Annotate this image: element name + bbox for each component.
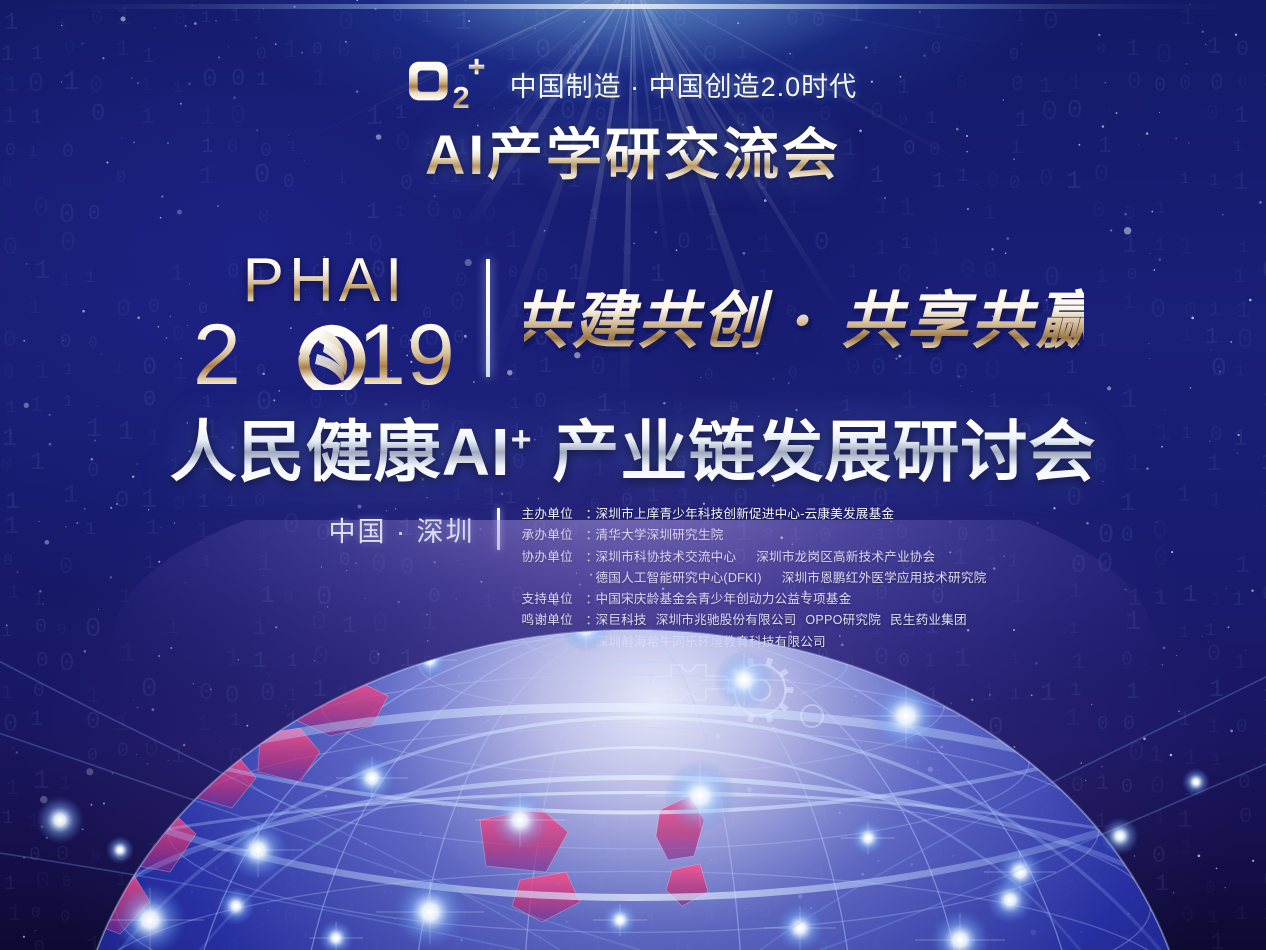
svg-text:1: 1 <box>983 201 996 226</box>
svg-text:1: 1 <box>28 812 39 832</box>
svg-text:1: 1 <box>590 767 606 797</box>
svg-text:1: 1 <box>312 675 327 704</box>
svg-text:1: 1 <box>675 868 688 893</box>
credit-org: 德国人工智能研究中心(DFKI) <box>596 571 762 585</box>
svg-text:1: 1 <box>454 840 467 865</box>
svg-text:2: 2 <box>452 80 469 112</box>
svg-text:0: 0 <box>285 744 298 769</box>
svg-text:1: 1 <box>311 837 324 862</box>
svg-text:1: 1 <box>395 203 405 222</box>
svg-text:1: 1 <box>841 746 854 771</box>
small-ring-icon <box>801 705 823 727</box>
credit-line: 支持单位：中国宋庆龄基金会青少年创动力公益专项基金 <box>522 589 970 610</box>
svg-text:0: 0 <box>1120 932 1134 950</box>
svg-text:0: 0 <box>675 933 691 950</box>
subtitle-text: AI产学研交流会 <box>0 126 1266 185</box>
svg-text:1: 1 <box>875 776 889 803</box>
svg-text:1: 1 <box>788 199 799 219</box>
calligraphy-slogan: 共建共创 · 共享共赢 <box>524 266 1084 370</box>
svg-text:1: 1 <box>33 766 50 797</box>
svg-text:0: 0 <box>400 805 411 827</box>
svg-text:1: 1 <box>1126 679 1140 705</box>
svg-text:0: 0 <box>985 862 1002 893</box>
globe-node <box>318 920 354 950</box>
svg-text:1: 1 <box>678 746 689 768</box>
svg-text:1: 1 <box>932 775 946 802</box>
svg-text:1: 1 <box>283 937 294 950</box>
svg-text:1: 1 <box>171 743 185 769</box>
svg-text:1: 1 <box>926 683 939 708</box>
svg-text:0: 0 <box>1041 804 1054 827</box>
svg-text:1: 1 <box>202 905 213 925</box>
credit-line: 协办单位：深圳市科协技术交流中心深圳市龙岗区高新技术产业协会 <box>522 547 970 568</box>
svg-text:0: 0 <box>228 745 244 775</box>
svg-text:0: 0 <box>453 741 469 771</box>
continent-shapes <box>82 678 708 934</box>
svg-text:1: 1 <box>957 776 968 798</box>
credit-colon: ： <box>586 589 596 610</box>
svg-text:0: 0 <box>510 718 522 741</box>
svg-text:0: 0 <box>33 680 44 702</box>
svg-text:1: 1 <box>595 874 607 897</box>
svg-text:1: 1 <box>1261 720 1266 740</box>
credit-line: 鸣谢单位：深巨科技深圳市兆驰股份有限公司OPPO研究院民生药业集团 <box>522 610 970 631</box>
year-2019: 2 19 <box>193 314 458 386</box>
svg-text:1: 1 <box>924 650 935 672</box>
svg-text:0: 0 <box>1097 874 1110 897</box>
svg-text:0: 0 <box>1128 738 1145 769</box>
svg-text:0: 0 <box>1097 713 1108 735</box>
svg-text:0: 0 <box>620 936 636 950</box>
svg-text:0: 0 <box>1150 772 1165 801</box>
svg-text:1: 1 <box>86 683 100 710</box>
svg-text:1: 1 <box>428 709 442 736</box>
main-title-plus: + <box>511 419 533 460</box>
phai-word-text: PHAI <box>243 246 408 315</box>
svg-text:0: 0 <box>843 775 854 795</box>
svg-text:1: 1 <box>1065 703 1081 733</box>
svg-text:0: 0 <box>428 683 441 706</box>
svg-text:0: 0 <box>592 806 608 836</box>
svg-text:0: 0 <box>1096 895 1111 924</box>
credit-org: 深圳市龙岗区高新技术产业协会 <box>756 550 935 564</box>
svg-text:0: 0 <box>456 805 468 828</box>
svg-text:1: 1 <box>1155 199 1166 219</box>
svg-text:1: 1 <box>1180 835 1193 860</box>
slogan-text: 中国制造 · 中国创造2.0时代 <box>510 65 858 104</box>
svg-text:1: 1 <box>758 780 768 799</box>
svg-text:0: 0 <box>34 938 45 950</box>
credit-org: 中国宋庆龄基金会青少年创动力公益专项基金 <box>596 592 852 606</box>
svg-text:0: 0 <box>340 742 353 765</box>
svg-text:1: 1 <box>815 675 829 702</box>
svg-text:0: 0 <box>424 838 437 861</box>
svg-text:1: 1 <box>874 191 890 221</box>
svg-text:0: 0 <box>285 803 299 829</box>
svg-text:1: 1 <box>1070 679 1081 701</box>
svg-text:0: 0 <box>760 904 771 924</box>
svg-text:1: 1 <box>1128 909 1138 927</box>
svg-text:1: 1 <box>981 774 997 804</box>
svg-text:0: 0 <box>988 712 1004 742</box>
svg-text:1: 1 <box>756 747 770 773</box>
credit-values: 德国人工智能研究中心(DFKI)深圳市恩鹏红外医学应用技术研究院 <box>596 568 987 589</box>
svg-text:1: 1 <box>846 653 858 676</box>
svg-text:1: 1 <box>1040 678 1056 708</box>
svg-text:0: 0 <box>369 714 380 736</box>
svg-text:1: 1 <box>565 739 579 765</box>
svg-text:1: 1 <box>337 682 351 709</box>
svg-text:1: 1 <box>1211 751 1222 771</box>
svg-text:0: 0 <box>454 904 467 929</box>
svg-text:1: 1 <box>819 938 832 950</box>
svg-text:1: 1 <box>1177 805 1193 835</box>
svg-text:0: 0 <box>258 206 269 228</box>
svg-text:0: 0 <box>225 683 239 710</box>
puzzle-piece-icon <box>654 665 729 700</box>
svg-text:1: 1 <box>482 232 492 250</box>
globe-node <box>394 876 466 948</box>
svg-text:1: 1 <box>624 775 638 802</box>
globe-node <box>602 902 638 938</box>
svg-text:1: 1 <box>617 807 633 837</box>
credit-line: 主办单位：深圳市上庠青少年科技创新促进中心-云康美发展基金 <box>522 504 970 525</box>
credit-colon: ： <box>586 610 596 631</box>
svg-text:1: 1 <box>315 780 327 803</box>
svg-text:0: 0 <box>35 867 50 896</box>
globe-node <box>348 754 396 802</box>
svg-text:1: 1 <box>819 903 835 933</box>
credit-org: 清华大学深圳研究生院 <box>596 528 724 542</box>
svg-text:1: 1 <box>899 682 912 705</box>
svg-text:0: 0 <box>1065 877 1076 899</box>
svg-text:1: 1 <box>1155 871 1169 897</box>
svg-text:0: 0 <box>1092 198 1106 224</box>
credit-colon: ： <box>586 547 596 568</box>
credit-values: 深圳市上庠青少年科技创新促进中心-云康美发展基金 <box>596 504 895 525</box>
svg-text:0: 0 <box>898 650 910 673</box>
svg-text:1: 1 <box>816 801 832 831</box>
main-title-part2: 产业链发展研讨会 <box>533 415 1097 490</box>
svg-text:0: 0 <box>675 802 691 832</box>
svg-text:0: 0 <box>734 876 746 899</box>
svg-text:0: 0 <box>86 709 100 736</box>
credit-org: 深巨科技 <box>596 613 647 627</box>
credit-colon: ： <box>586 525 596 546</box>
svg-text:0: 0 <box>452 206 462 224</box>
globe-node <box>930 910 990 950</box>
svg-text:1: 1 <box>533 776 546 799</box>
svg-text:1: 1 <box>1039 902 1054 931</box>
poster-header: 2 中国制造 · 中国创造2.0时代 AI产学研交流会 <box>0 0 1266 185</box>
svg-text:1: 1 <box>141 877 153 900</box>
svg-text:0: 0 <box>787 783 798 803</box>
svg-text:0: 0 <box>955 711 971 741</box>
svg-text:0: 0 <box>646 711 660 737</box>
svg-text:1: 1 <box>8 902 21 927</box>
svg-text:1: 1 <box>228 906 241 931</box>
credit-label: 鸣谢单位 <box>522 610 586 631</box>
svg-text:0: 0 <box>87 746 98 766</box>
svg-text:0: 0 <box>341 898 355 924</box>
svg-text:0: 0 <box>957 909 968 931</box>
svg-text:0: 0 <box>284 776 297 801</box>
svg-text:1: 1 <box>846 811 860 837</box>
credit-values: 中国宋庆龄基金会青少年创动力公益专项基金 <box>596 589 852 610</box>
svg-text:1: 1 <box>1210 930 1224 950</box>
o2-plus-logo-icon: 2 <box>409 56 498 112</box>
svg-text:1: 1 <box>449 927 464 950</box>
svg-text:0: 0 <box>566 871 580 897</box>
svg-text:1: 1 <box>678 710 691 735</box>
svg-text:1: 1 <box>930 907 944 934</box>
credit-values: 深圳前海希牛同乐环境教育科技有限公司 <box>596 632 826 653</box>
credit-label: 主办单位 <box>522 504 586 525</box>
svg-text:0: 0 <box>595 835 612 866</box>
svg-text:1: 1 <box>790 710 806 740</box>
city-label: 中国 · 深圳 <box>297 500 497 549</box>
svg-text:0: 0 <box>1010 770 1024 796</box>
svg-text:1: 1 <box>230 837 244 864</box>
svg-text:0: 0 <box>88 203 101 226</box>
svg-text:0: 0 <box>31 904 41 922</box>
page-title: 人民健康AI+ 产业链发展研讨会 <box>0 398 1266 495</box>
calligraphy-text: 共建共创 · 共享共赢 <box>524 284 1084 357</box>
svg-text:1: 1 <box>170 814 181 834</box>
svg-text:0: 0 <box>1123 713 1135 736</box>
svg-text:1: 1 <box>1209 675 1224 704</box>
svg-text:1: 1 <box>899 193 915 223</box>
credit-label: 承办单位 <box>522 525 586 546</box>
svg-text:0: 0 <box>449 871 466 902</box>
svg-text:0: 0 <box>59 201 75 231</box>
svg-text:1: 1 <box>731 744 743 767</box>
svg-text:1: 1 <box>983 815 993 833</box>
svg-text:1: 1 <box>679 652 689 671</box>
svg-text:1: 1 <box>1149 742 1163 768</box>
svg-text:0: 0 <box>3 710 18 739</box>
credit-line: 德国人工智能研究中心(DFKI)深圳市恩鹏红外医学应用技术研究院 <box>522 568 970 589</box>
svg-text:0: 0 <box>91 847 101 865</box>
svg-text:0: 0 <box>29 844 40 866</box>
svg-text:0: 0 <box>731 813 744 836</box>
svg-text:1: 1 <box>175 838 187 861</box>
svg-text:1: 1 <box>1155 808 1165 827</box>
credit-org: 深圳市上庠青少年科技创新促进中心-云康美发展基金 <box>596 507 895 521</box>
svg-text:1: 1 <box>872 935 882 950</box>
svg-text:0: 0 <box>478 811 491 834</box>
svg-text:1: 1 <box>903 778 916 803</box>
svg-text:1: 1 <box>370 780 381 800</box>
phai-logo: PHAI + <box>183 250 468 386</box>
svg-text:0: 0 <box>421 738 437 768</box>
svg-text:1: 1 <box>960 932 976 950</box>
credit-values: 清华大学深圳研究生院 <box>596 525 724 546</box>
svg-text:0: 0 <box>394 784 405 804</box>
svg-text:0: 0 <box>620 676 636 706</box>
credit-org: 深圳市科协技术交流中心 <box>596 550 737 564</box>
svg-text:1: 1 <box>594 689 604 708</box>
gear-icon <box>727 658 794 721</box>
o2-logo-row: 2 中国制造 · 中国创造2.0时代 <box>0 56 1266 112</box>
globe-node <box>714 650 774 710</box>
svg-text:0: 0 <box>174 872 187 895</box>
svg-text:19: 19 <box>358 314 456 390</box>
credit-values: 深圳市科协技术交流中心深圳市龙岗区高新技术产业协会 <box>596 547 936 568</box>
svg-text:0: 0 <box>680 903 691 925</box>
svg-text:0: 0 <box>144 735 159 764</box>
logo-block: PHAI + <box>0 250 1266 386</box>
svg-text:0: 0 <box>847 677 860 700</box>
svg-text:0: 0 <box>141 675 157 705</box>
svg-text:0: 0 <box>60 908 70 927</box>
credit-line: 深圳前海希牛同乐环境教育科技有限公司 <box>522 632 970 653</box>
svg-text:1: 1 <box>287 652 298 672</box>
svg-text:1: 1 <box>533 679 550 710</box>
credit-values: 深巨科技深圳市兆驰股份有限公司OPPO研究院民生药业集团 <box>596 610 967 631</box>
svg-text:0: 0 <box>1238 772 1251 795</box>
svg-text:0: 0 <box>981 930 997 950</box>
svg-text:1: 1 <box>1072 650 1085 675</box>
svg-text:1: 1 <box>116 871 127 891</box>
svg-text:0: 0 <box>930 865 944 891</box>
svg-text:0: 0 <box>1205 879 1216 899</box>
svg-text:1: 1 <box>427 901 443 931</box>
globe-node <box>228 820 288 880</box>
svg-text:1: 1 <box>6 778 19 801</box>
credit-line: 承办单位：清华大学深圳研究生院 <box>522 525 970 546</box>
svg-text:0: 0 <box>117 740 129 763</box>
svg-text:1: 1 <box>563 809 573 827</box>
svg-text:1: 1 <box>648 868 664 898</box>
svg-text:0: 0 <box>199 680 213 707</box>
svg-text:1: 1 <box>481 874 494 897</box>
svg-text:0: 0 <box>1152 843 1166 869</box>
globe-node <box>36 796 84 844</box>
svg-text:0: 0 <box>1036 941 1049 950</box>
logo-divider-bar <box>486 259 490 377</box>
svg-text:0: 0 <box>115 933 131 950</box>
svg-text:0: 0 <box>592 711 607 740</box>
poster-canvas: 1101011100110010100001110111011010000110… <box>0 0 1266 950</box>
globe-node <box>490 790 550 850</box>
svg-text:0: 0 <box>423 653 433 671</box>
svg-text:1: 1 <box>285 841 299 867</box>
svg-text:1: 1 <box>564 934 579 950</box>
svg-text:1: 1 <box>927 744 940 767</box>
svg-text:1: 1 <box>1096 771 1109 796</box>
svg-text:0: 0 <box>283 901 299 931</box>
svg-text:0: 0 <box>484 709 495 731</box>
svg-text:0: 0 <box>62 873 72 891</box>
svg-text:1: 1 <box>1099 838 1113 864</box>
svg-text:1: 1 <box>1095 942 1108 950</box>
svg-text:0: 0 <box>1067 927 1082 950</box>
svg-text:1: 1 <box>761 674 776 703</box>
globe-node <box>1040 730 1076 766</box>
svg-text:1: 1 <box>728 706 743 735</box>
svg-text:1: 1 <box>395 881 405 899</box>
svg-text:1: 1 <box>396 748 407 770</box>
svg-text:1: 1 <box>2 807 13 829</box>
svg-text:0: 0 <box>1072 843 1083 863</box>
svg-text:0: 0 <box>816 745 829 770</box>
svg-text:1: 1 <box>673 849 683 867</box>
globe-node <box>996 848 1044 896</box>
svg-text:1: 1 <box>201 808 216 837</box>
svg-text:1: 1 <box>254 834 270 864</box>
svg-text:0: 0 <box>482 201 496 228</box>
svg-text:1: 1 <box>144 901 160 931</box>
svg-text:1: 1 <box>1184 746 1197 771</box>
credit-label: 协办单位 <box>522 547 586 568</box>
svg-text:1: 1 <box>617 712 632 741</box>
svg-text:1: 1 <box>590 933 604 950</box>
svg-text:1: 1 <box>1208 716 1219 738</box>
svg-text:0: 0 <box>339 773 353 800</box>
svg-text:1: 1 <box>1095 811 1108 834</box>
svg-text:0: 0 <box>734 842 746 865</box>
svg-text:1: 1 <box>86 931 102 950</box>
svg-text:0: 0 <box>1122 869 1136 895</box>
svg-text:1: 1 <box>146 838 159 863</box>
globe-node <box>114 884 186 950</box>
credit-org: OPPO研究院 <box>805 613 881 627</box>
svg-text:1: 1 <box>228 799 245 830</box>
credit-label: 支持单位 <box>522 589 586 610</box>
globe-node <box>217 887 255 925</box>
svg-text:0: 0 <box>1065 908 1077 931</box>
year-2019-graphic: 2 19 <box>193 314 458 390</box>
svg-text:0: 0 <box>260 678 276 708</box>
svg-text:1: 1 <box>533 846 543 864</box>
svg-text:0: 0 <box>958 747 971 772</box>
svg-text:0: 0 <box>479 929 495 950</box>
svg-text:1: 1 <box>792 736 808 766</box>
svg-text:2: 2 <box>193 314 242 390</box>
globe-node <box>106 836 134 864</box>
svg-text:1: 1 <box>589 206 599 225</box>
svg-text:0: 0 <box>511 743 524 766</box>
phai-plus-superscript: + <box>408 244 423 270</box>
svg-text:1: 1 <box>982 681 996 708</box>
svg-text:0: 0 <box>623 906 633 925</box>
credit-org: 深圳市恩鹏红外医学应用技术研究院 <box>782 571 987 585</box>
svg-text:1: 1 <box>285 708 299 735</box>
svg-text:1: 1 <box>707 199 718 221</box>
credits-block: 主办单位：深圳市上庠青少年科技创新促进中心-云康美发展基金承办单位：清华大学深圳… <box>500 500 970 653</box>
svg-text:0: 0 <box>705 928 721 950</box>
globe-node <box>776 904 824 950</box>
svg-text:0: 0 <box>283 868 296 893</box>
svg-text:1: 1 <box>871 683 885 710</box>
svg-text:1: 1 <box>59 773 71 796</box>
globe-node <box>1182 768 1210 796</box>
globe-node <box>1101 817 1139 855</box>
svg-text:1: 1 <box>30 707 43 732</box>
svg-text:0: 0 <box>365 682 379 708</box>
svg-text:1: 1 <box>617 839 631 866</box>
credit-org: 深圳前海希牛同乐环境教育科技有限公司 <box>596 635 826 649</box>
svg-text:1: 1 <box>1010 686 1020 705</box>
svg-text:1: 1 <box>510 868 526 898</box>
svg-text:1: 1 <box>309 897 324 926</box>
svg-text:0: 0 <box>115 844 126 866</box>
globe-node <box>664 760 736 832</box>
svg-text:0: 0 <box>56 842 69 867</box>
svg-text:1: 1 <box>706 907 716 926</box>
credit-colon: ： <box>586 504 596 525</box>
